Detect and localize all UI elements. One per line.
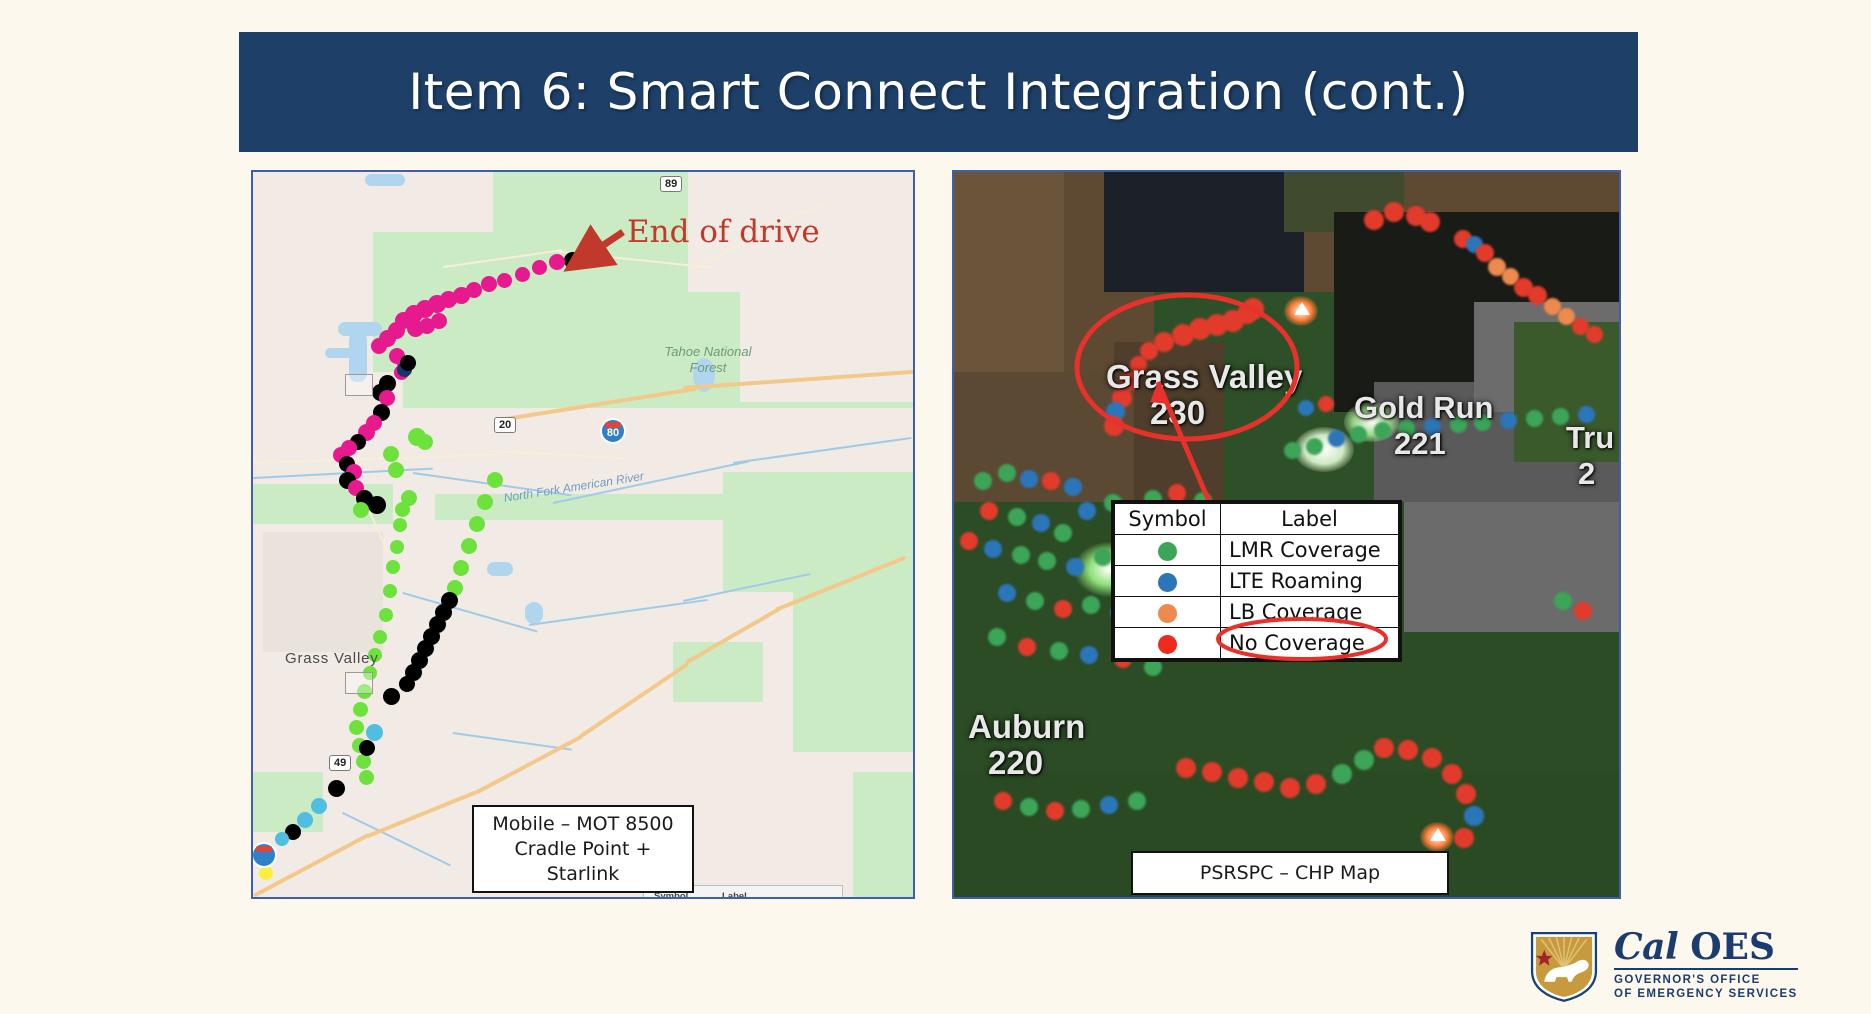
slide-title-bar: Item 6: Smart Connect Integration (cont.… [239, 32, 1638, 152]
right-map-caption: PSRSPC – CHP Map [1131, 851, 1449, 895]
right-legend-label-no-coverage: No Coverage [1221, 628, 1399, 659]
right-legend-row-no-coverage: No Coverage [1115, 628, 1399, 659]
right-map-panel[interactable]: Grass Valley 230 Gold Run 221 Tru 2 Aubu… [952, 170, 1621, 899]
right-legend-row-lb: LB Coverage [1115, 597, 1399, 628]
map-label-tahoe-national-forest: Tahoe National Forest [653, 344, 763, 376]
page-title: Item 6: Smart Connect Integration (cont.… [408, 63, 1468, 121]
route-shield-20: 20 [494, 417, 516, 433]
right-map-legend[interactable]: Symbol Label LMR Coverage LTE Roaming LB… [1111, 500, 1402, 662]
route-shield-89: 89 [660, 176, 682, 192]
route-shield-80-south [251, 842, 277, 868]
right-legend-row-lte-roaming: LTE Roaming [1115, 566, 1399, 597]
rm-label-auburn: Auburn [968, 708, 1085, 746]
rm-label-auburn-id: 220 [988, 744, 1043, 782]
route-shield-49: 49 [329, 755, 351, 771]
map-marker-box-2 [345, 672, 373, 694]
cal-oes-tagline: GOVERNOR'S OFFICE OF EMERGENCY SERVICES [1614, 973, 1798, 1001]
left-map-panel[interactable]: 89 20 80 49 Grass Valley Tahoe National … [251, 170, 915, 899]
rm-label-grass-valley: Grass Valley [1106, 358, 1302, 396]
rm-label-grass-valley-id: 230 [1150, 394, 1205, 432]
right-legend-label-lb: LB Coverage [1221, 597, 1399, 628]
right-legend-symbol-lb [1115, 597, 1221, 628]
cal-oes-logo: Cal OES GOVERNOR'S OFFICE OF EMERGENCY S… [1526, 924, 1856, 1006]
left-legend-header-label: Label [712, 886, 842, 899]
cal-oes-main-text: Cal OES [1614, 929, 1798, 965]
cal-oes-wordmark: Cal OES GOVERNOR'S OFFICE OF EMERGENCY S… [1614, 929, 1798, 1001]
end-of-drive-arrow [453, 222, 633, 332]
right-legend-symbol-lmr [1115, 535, 1221, 566]
right-legend-header-label: Label [1221, 504, 1399, 535]
map-label-grass-valley: Grass Valley [285, 650, 379, 667]
end-of-drive-annotation: End of drive [627, 214, 820, 250]
rm-label-gold-run: Gold Run [1354, 390, 1493, 426]
rm-label-truckee: Tru [1566, 420, 1614, 456]
right-legend-row-lmr: LMR Coverage [1115, 535, 1399, 566]
right-legend-symbol-no-coverage [1115, 628, 1221, 659]
rm-label-truckee-id: 2 [1578, 456, 1595, 492]
route-shield-80: 80 [600, 418, 626, 444]
left-map-caption: Mobile – MOT 8500 Cradle Point + Starlin… [472, 805, 694, 893]
right-legend-label-lte-roaming: LTE Roaming [1221, 566, 1399, 597]
cal-oes-shield-icon [1526, 927, 1602, 1003]
rm-label-gold-run-id: 221 [1394, 426, 1446, 462]
right-legend-symbol-lte-roaming [1115, 566, 1221, 597]
right-legend-label-lmr: LMR Coverage [1221, 535, 1399, 566]
logo-divider [1614, 968, 1798, 970]
map-marker-box-1 [345, 374, 373, 396]
right-legend-header-symbol: Symbol [1115, 504, 1221, 535]
